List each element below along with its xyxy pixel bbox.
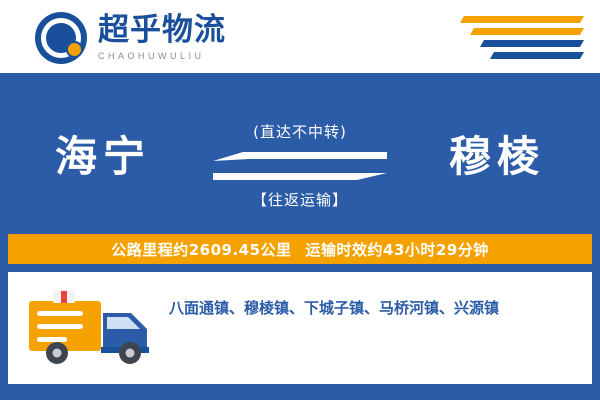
brand-name-en: CHAOHUWULIU [98, 51, 226, 61]
double-arrow-icon [213, 150, 387, 180]
route-block: 海宁 (直达不中转) 【往返运输】 穆棱 [0, 93, 600, 233]
speed-lines-icon [454, 16, 582, 60]
route-note-bottom: 【往返运输】 [205, 189, 395, 210]
info-bar: 公路里程约2609.45公里 运输时效约43小时29分钟 [8, 234, 592, 264]
speed-line-4 [490, 52, 584, 59]
delivery-truck-icon [27, 291, 159, 369]
distance-text: 公路里程约2609.45公里 [111, 239, 291, 260]
route-middle: (直达不中转) 【往返运输】 [205, 93, 395, 233]
main-panel: 海宁 (直达不中转) 【往返运输】 穆棱 公路里程约2609.45公里 运输时效… [0, 73, 600, 400]
towns-list: 八面通镇、穆棱镇、下城子镇、马桥河镇、兴源镇 [169, 295, 579, 321]
origin-city: 海宁 [8, 123, 198, 184]
poster-root: 超乎物流 CHAOHUWULIU 海宁 (直达不中转) 【往返运输】 [0, 0, 600, 400]
route-note-top: (直达不中转) [205, 121, 395, 142]
duration-text: 运输时效约43小时29分钟 [306, 239, 489, 260]
speed-line-3 [480, 40, 584, 47]
brand: 超乎物流 CHAOHUWULIU [98, 13, 226, 61]
circle-logo-icon [35, 12, 87, 64]
brand-name-cn: 超乎物流 [98, 13, 226, 47]
destination-city: 穆棱 [402, 123, 592, 184]
logo-ring-shape [41, 18, 81, 58]
speed-line-1 [460, 16, 584, 23]
towns-box: 八面通镇、穆棱镇、下城子镇、马桥河镇、兴源镇 [8, 272, 592, 384]
header: 超乎物流 CHAOHUWULIU [0, 0, 600, 73]
speed-line-2 [470, 28, 584, 35]
